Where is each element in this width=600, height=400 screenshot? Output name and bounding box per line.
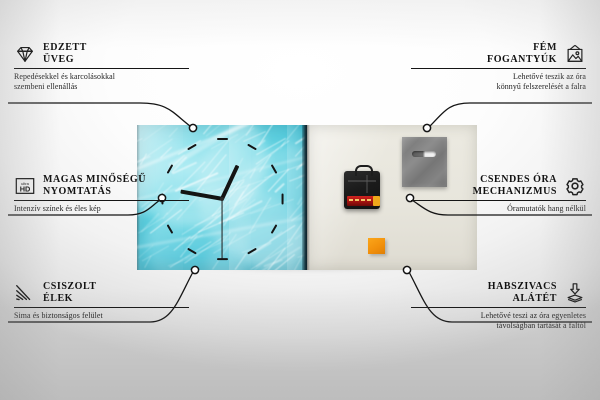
battery-band xyxy=(349,199,353,201)
hanger-slot xyxy=(412,151,436,157)
hour-marker xyxy=(271,224,278,234)
callout-divider xyxy=(14,307,189,308)
callout-description: Lehetővé teszik az óra könnyű felszerelé… xyxy=(411,72,586,91)
mechanism-hook xyxy=(355,165,373,176)
battery-terminal xyxy=(373,196,380,206)
diagonal-lines-icon xyxy=(14,282,36,304)
callout-polished-edges[interactable]: CSISZOLT ÉLEK Sima és biztonságos felüle… xyxy=(14,281,189,321)
callout-description: Sima és biztonságos felület xyxy=(14,311,189,321)
callout-metal-handles[interactable]: FÉM FOGANTYÚK Lehetővé teszik az óra kön… xyxy=(411,42,586,91)
hour-marker xyxy=(187,144,197,151)
callout-header: EDZETT ÜVEG xyxy=(14,42,189,65)
hour-marker xyxy=(247,144,257,151)
callout-title-line2: NYOMTATÁS xyxy=(43,186,111,197)
callout-header: FÉM FOGANTYÚK xyxy=(411,42,586,65)
mechanism-groove-vertical xyxy=(366,175,368,193)
callout-silent-mechanism[interactable]: CSENDES ÓRA MECHANIZMUS Óramutatók hang … xyxy=(411,174,586,214)
hour-marker xyxy=(167,224,174,234)
hour-marker xyxy=(167,164,174,174)
quartz-clock-mechanism xyxy=(344,171,380,209)
panel-seam xyxy=(307,125,310,270)
callout-divider xyxy=(14,200,189,201)
callout-title-line2: ÉLEK xyxy=(43,293,73,304)
connector-tempered-glass xyxy=(8,103,190,126)
hour-marker xyxy=(271,164,278,174)
callout-description: Repedésekkel és karcolásokkal szembeni e… xyxy=(14,72,189,91)
callout-title-line1: CSENDES ÓRA xyxy=(480,174,557,185)
ultra-hd-icon: ultra HD xyxy=(14,175,36,197)
callout-divider xyxy=(411,68,586,69)
callout-title-line1: CSISZOLT xyxy=(43,281,97,292)
callout-title-line1: MAGAS MINŐSÉGŰ xyxy=(43,174,146,185)
callout-title-line2: ALÁTÉT xyxy=(513,293,557,304)
hour-marker xyxy=(281,194,283,205)
callout-desc-line2: szembeni ellenállás xyxy=(14,82,77,91)
battery-band xyxy=(355,199,359,201)
callout-title: MAGAS MINŐSÉGŰ NYOMTATÁS xyxy=(43,174,146,197)
svg-text:HD: HD xyxy=(20,184,31,193)
callout-title-line1: HABSZIVACS xyxy=(488,281,557,292)
callout-desc-line1: Repedésekkel és karcolásokkal xyxy=(14,72,115,81)
callout-header: HABSZIVACS ALÁTÉT xyxy=(411,281,586,304)
callout-title-line2: MECHANIZMUS xyxy=(473,186,557,197)
callout-desc-line1: Sima és biztonságos felület xyxy=(14,311,103,320)
battery xyxy=(347,196,377,206)
battery-band xyxy=(367,199,371,201)
foam-pad xyxy=(368,238,385,254)
callout-desc-line1: Intenzív színek és éles kép xyxy=(14,204,101,213)
callout-desc-line2: könnyű felszerelését a falra xyxy=(497,82,586,91)
mechanism-groove xyxy=(348,180,376,182)
hour-hand xyxy=(220,165,239,200)
callout-title-line1: EDZETT xyxy=(43,42,87,53)
gear-icon xyxy=(564,175,586,197)
hour-marker xyxy=(187,248,197,255)
connector-metal-handles xyxy=(430,103,592,126)
callout-high-quality-print[interactable]: ultra HD MAGAS MINŐSÉGŰ NYOMTATÁS Intenz… xyxy=(14,174,189,214)
callout-header: ultra HD MAGAS MINŐSÉGŰ NYOMTATÁS xyxy=(14,174,189,197)
callout-title: CSISZOLT ÉLEK xyxy=(43,281,97,304)
callout-title: FÉM FOGANTYÚK xyxy=(487,42,557,65)
feather-barb xyxy=(300,151,307,167)
hanging-picture-icon xyxy=(564,43,586,65)
hour-marker xyxy=(247,248,257,255)
hour-marker xyxy=(217,138,228,140)
clock-center-cap xyxy=(220,197,224,201)
callout-title: HABSZIVACS ALÁTÉT xyxy=(488,281,557,304)
callout-title-line1: FÉM xyxy=(533,42,557,53)
callout-title-line2: ÜVEG xyxy=(43,54,74,65)
callout-desc-line1: Óramutatók hang nélkül xyxy=(507,204,586,213)
callout-description: Lehetővé teszi az óra egyenletes távolsá… xyxy=(411,311,586,330)
callout-tempered-glass[interactable]: EDZETT ÜVEG Repedésekkel és karcolásokka… xyxy=(14,42,189,91)
battery-band xyxy=(361,199,365,201)
callout-desc-line2: távolságban tartását a faltól xyxy=(497,321,586,330)
callout-divider xyxy=(411,200,586,201)
second-hand xyxy=(221,199,222,259)
infographic-stage: EDZETT ÜVEG Repedésekkel és karcolásokka… xyxy=(0,0,600,400)
callout-desc-line1: Lehetővé teszi az óra egyenletes xyxy=(481,311,586,320)
callout-desc-line1: Lehetővé teszik az óra xyxy=(513,72,586,81)
callout-description: Intenzív színek és éles kép xyxy=(14,204,189,214)
press-pad-icon xyxy=(564,282,586,304)
callout-header: CSENDES ÓRA MECHANIZMUS xyxy=(411,174,586,197)
callout-title: EDZETT ÜVEG xyxy=(43,42,87,65)
callout-divider xyxy=(411,307,586,308)
callout-title: CSENDES ÓRA MECHANIZMUS xyxy=(473,174,557,197)
callout-foam-pad[interactable]: HABSZIVACS ALÁTÉT Lehetővé teszi az óra … xyxy=(411,281,586,330)
callout-description: Óramutatók hang nélkül xyxy=(411,204,586,214)
diamond-icon xyxy=(14,43,36,65)
callout-divider xyxy=(14,68,189,69)
callout-header: CSISZOLT ÉLEK xyxy=(14,281,189,304)
callout-title-line2: FOGANTYÚK xyxy=(487,54,557,65)
